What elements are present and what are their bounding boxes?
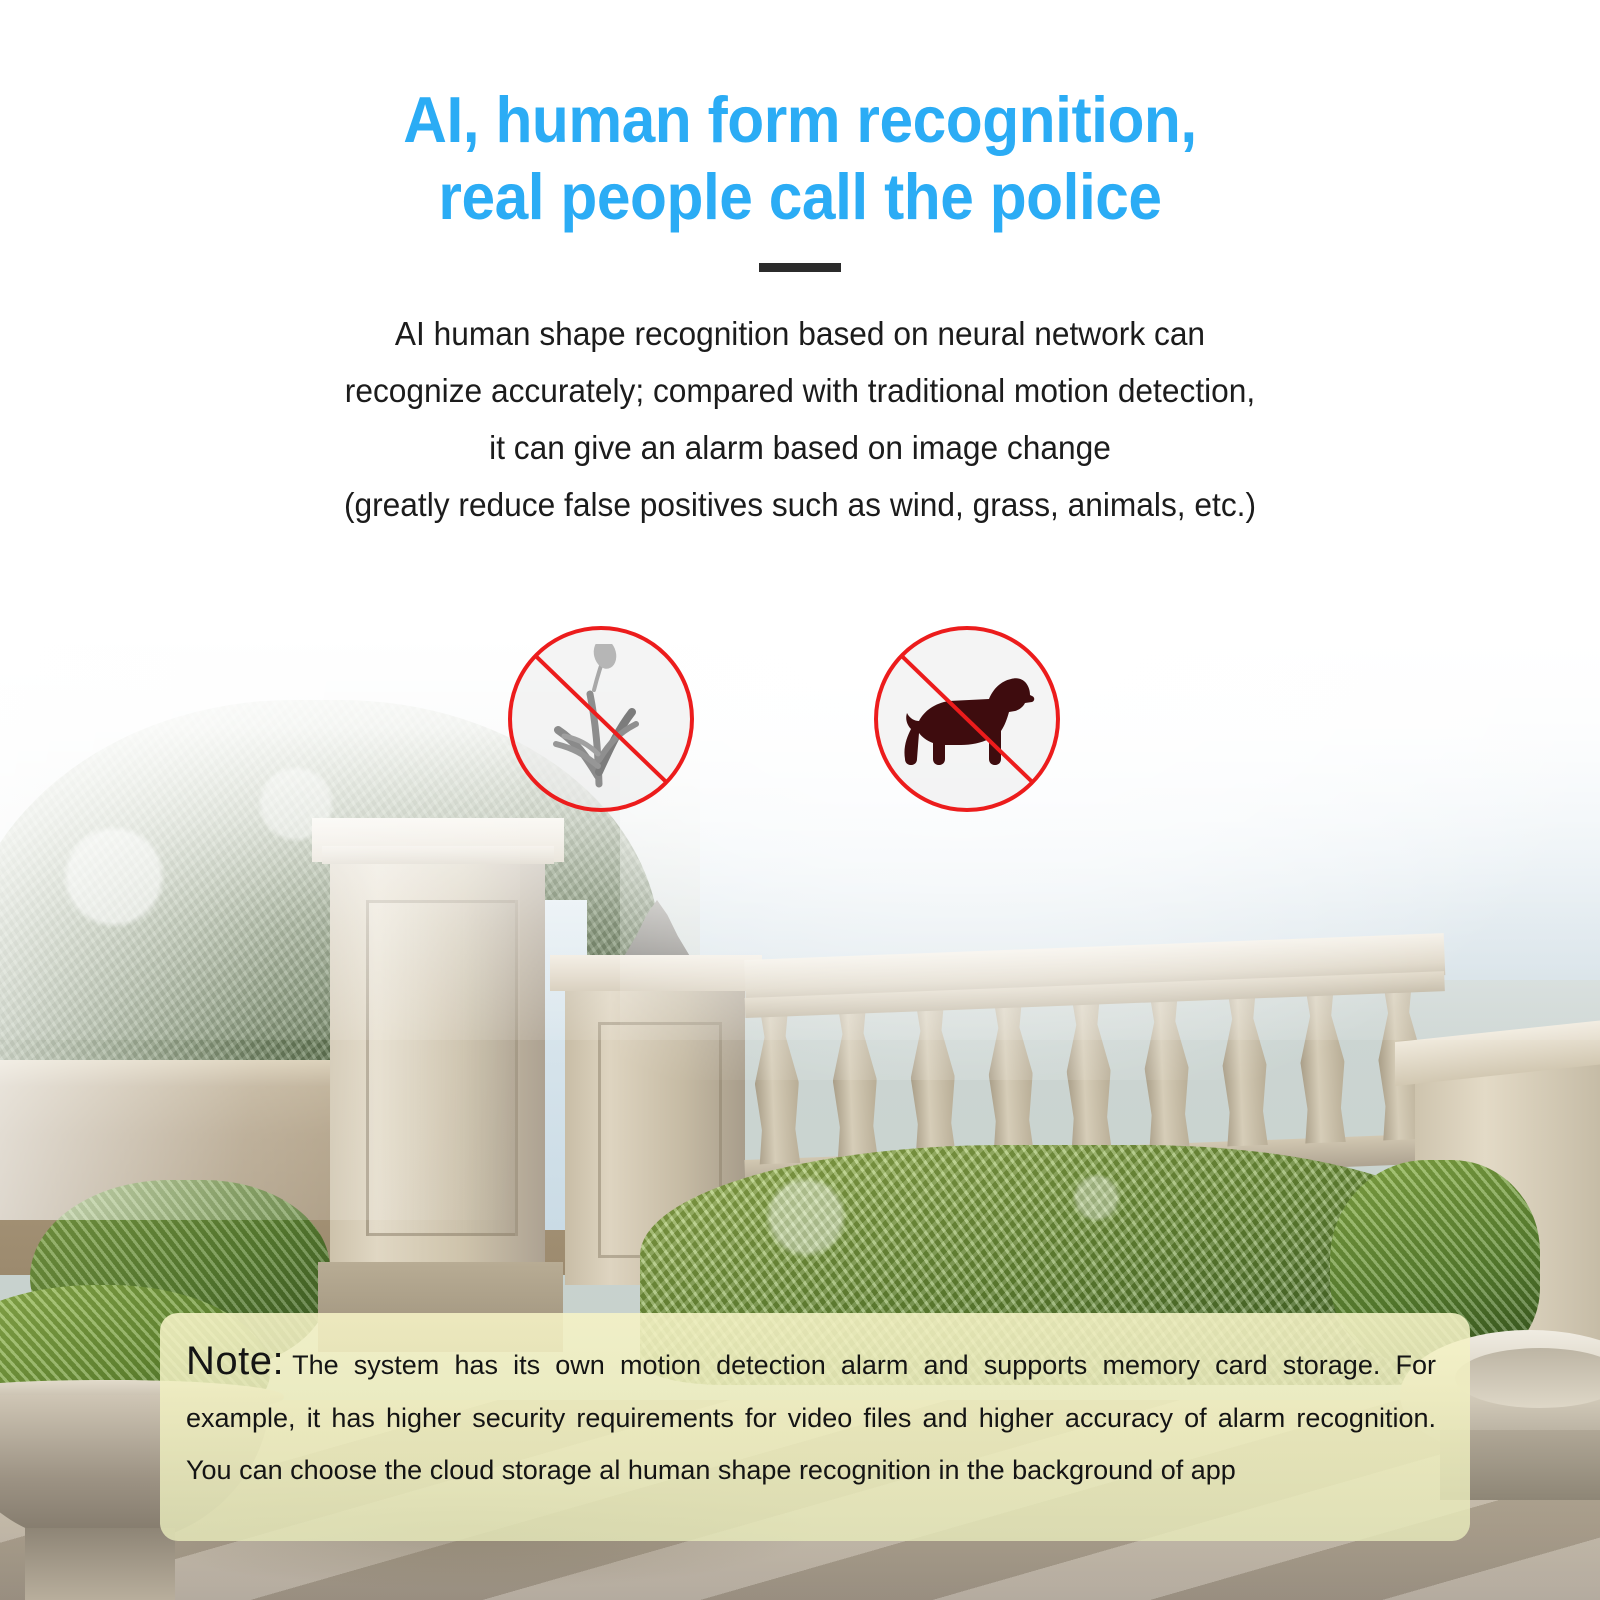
header-block: AI, human form recognition, real people … xyxy=(0,0,1600,533)
page-title: AI, human form recognition, real people … xyxy=(56,0,1544,235)
note-body: The system has its own motion detection … xyxy=(186,1350,1436,1485)
no-dog-sign xyxy=(874,626,1060,812)
prohibited-subjects-row xyxy=(0,626,1600,816)
photo-haze-left xyxy=(0,520,520,1220)
note-paragraph: Note:The system has its own motion detec… xyxy=(186,1339,1436,1497)
title-divider xyxy=(759,263,841,272)
note-label: Note: xyxy=(186,1339,284,1383)
promo-page: AI, human form recognition, real people … xyxy=(0,0,1600,1600)
photo-urn-foot xyxy=(25,1528,175,1600)
intro-paragraph: AI human shape recognition based on neur… xyxy=(262,306,1337,533)
no-grass-sign xyxy=(508,626,694,812)
note-box: Note:The system has its own motion detec… xyxy=(160,1313,1470,1541)
